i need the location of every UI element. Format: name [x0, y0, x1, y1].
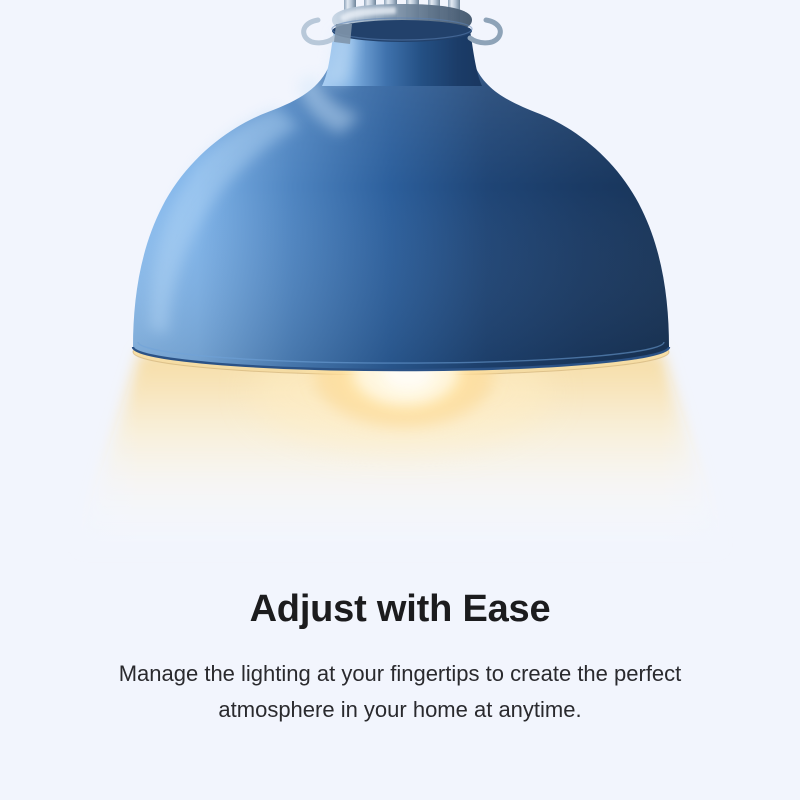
lamp-svg — [0, 0, 800, 600]
page-subtitle: Manage the lighting at your fingertips t… — [100, 634, 700, 730]
pendant-lamp-illustration — [0, 0, 800, 600]
page-title: Adjust with Ease — [0, 586, 800, 634]
marketing-hero-page: Adjust with Ease Manage the lighting at … — [0, 0, 800, 800]
copy-block: Adjust with Ease Manage the lighting at … — [0, 586, 800, 729]
scene-vignette — [0, 0, 800, 600]
